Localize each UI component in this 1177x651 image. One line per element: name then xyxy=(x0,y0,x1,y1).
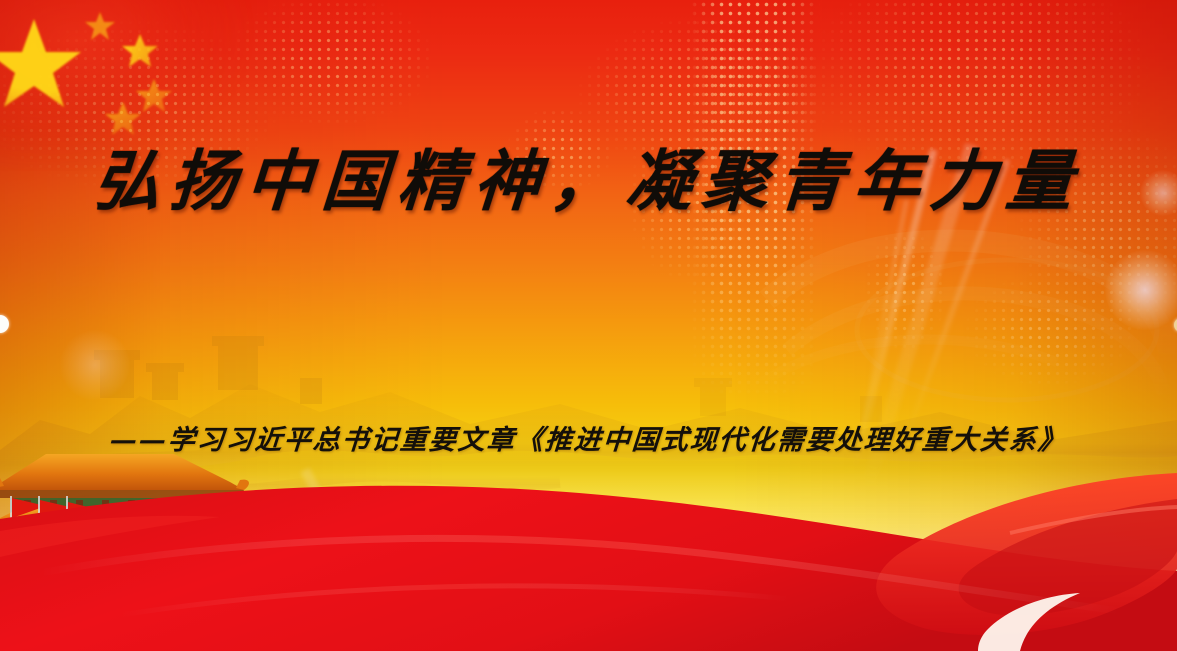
page-title: 弘扬中国精神，凝聚青年力量 xyxy=(0,128,1177,224)
poster-canvas: 中华人民共和国万岁 世界人民大团结万岁 xyxy=(0,0,1177,651)
page-subtitle: ——学习习近平总书记重要文章《推进中国式现代化需要处理好重大关系》 xyxy=(0,418,1177,457)
